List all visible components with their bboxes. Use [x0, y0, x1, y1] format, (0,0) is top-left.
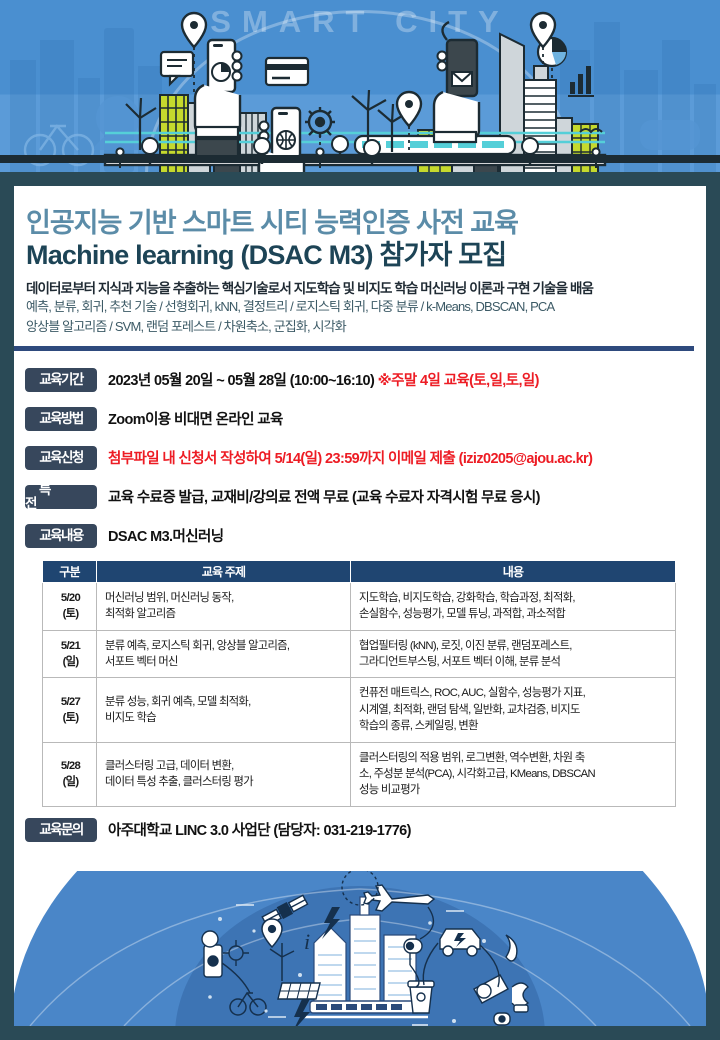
cell-content: 지도학습, 비지도학습, 강화학습, 학습과정, 최적화,손실함수, 성능평가,…: [351, 582, 676, 630]
bar-chart-icon: [568, 66, 594, 96]
title-block: 인공지능 기반 스마트 시티 능력인증 사전 교육 Machine learni…: [14, 186, 706, 337]
info-period-black: 2023년 05월 20일 ~ 05월 28일 (10:00~16:10): [108, 373, 374, 389]
badge-benefits: 특 전: [25, 485, 97, 509]
badge-education-content: 교육내용: [25, 524, 97, 548]
cell-date-line2: (일): [51, 654, 90, 670]
cell-date-line1: 5/28: [51, 758, 90, 774]
cell-date-line2: (일): [51, 774, 90, 790]
hand-phone-left: [195, 40, 242, 159]
flame-icon: [506, 935, 517, 961]
smart-city-scene: [0, 0, 720, 172]
cctv-dome-icon: [474, 975, 508, 1003]
electric-car-icon: [440, 929, 480, 956]
cfl-bulb-icon: [512, 983, 528, 1012]
table-row: 5/21 (일) 분류 예측, 로지스틱 회귀, 앙상블 알고리즘,서포트 벡터…: [43, 630, 676, 678]
wind-turbine-small-icon: [270, 943, 294, 981]
cell-content: 컨퓨전 매트릭스, ROC, AUC, 실함수, 성능평가 지표,시계열, 최적…: [351, 678, 676, 742]
cell-topic: 분류 성능, 회귀 예측, 모델 최적화,비지도 학습: [97, 678, 351, 742]
badge-education-inquiry: 교육문의: [25, 818, 97, 842]
info-row-method: 교육방법 Zoom이용 비대면 온라인 교육: [25, 404, 706, 434]
badge-education-method: 교육방법: [25, 407, 97, 431]
title-divider: [14, 346, 694, 351]
map-pin-small-icon: [262, 919, 282, 947]
table-row: 5/28 (일) 클러스터링 고급, 데이터 변환,데이터 특성 추출, 클러스…: [43, 742, 676, 806]
cell-date: 5/28 (일): [43, 742, 97, 806]
contact-row: 교육문의 아주대학교 LINC 3.0 사업단 (담당자: 031-219-17…: [25, 818, 706, 842]
tram-icon: [302, 1001, 428, 1017]
page-title-line1: 인공지능 기반 스마트 시티 능력인증 사전 교육: [26, 208, 706, 238]
subtitle-topics-line1: 예측, 분류, 회귀, 추천 기술 / 선형회귀, kNN, 결정트리 / 로지…: [26, 297, 706, 317]
info-benefits-text: 교육 수료증 발급, 교재비/강의료 전액 무료 (교육 수료자 자격시험 무료…: [108, 486, 540, 507]
smartphone-small-icon: [202, 931, 222, 977]
subtitle-description: 데이터로부터 지식과 지능을 추출하는 핵심기술로서 지도학습 및 비지도 학습…: [26, 277, 706, 297]
table-row: 5/20 (토) 머신러닝 범위, 머신러닝 동작,최적화 알고리즘 지도학습,…: [43, 582, 676, 630]
contact-text: 아주대학교 LINC 3.0 사업단 (담당자: 031-219-1776): [108, 819, 411, 840]
info-rows-list: 교육기간 2023년 05월 20일 ~ 05월 28일 (10:00~16:1…: [14, 365, 706, 551]
badge-education-application: 교육신청: [25, 446, 97, 470]
subtitle-topics-line2: 앙상블 알고리즘 / SVM, 랜덤 포레스트 / 차원축소, 군집화, 시각화: [26, 317, 706, 337]
poster-frame: 인공지능 기반 스마트 시티 능력인증 사전 교육 Machine learni…: [0, 172, 720, 1040]
info-row-application: 교육신청 첨부파일 내 신청서 작성하여 5/14(일) 23:59까지 이메일…: [25, 443, 706, 473]
table-header-content: 내용: [351, 560, 676, 582]
cell-topic: 분류 예측, 로지스틱 회귀, 앙상블 알고리즘,서포트 벡터 머신: [97, 630, 351, 678]
cell-topic: 클러스터링 고급, 데이터 변환,데이터 특성 추출, 클러스터링 평가: [97, 742, 351, 806]
cell-date-line2: (토): [51, 710, 90, 726]
chat-bubble-icon: [161, 52, 193, 84]
svg-text:i: i: [304, 929, 310, 954]
cell-topic: 머신러닝 범위, 머신러닝 동작,최적화 알고리즘: [97, 582, 351, 630]
iot-city-scene: i: [14, 871, 706, 1026]
cell-content: 협업필터링 (kNN), 로짓, 이진 분류, 랜덤포레스트,그라디언트부스팅,…: [351, 630, 676, 678]
top-banner-illustration: SMART CITY: [0, 0, 720, 172]
info-period-red: ※주말 4일 교육(토,일,토,일): [378, 373, 539, 389]
cell-content: 클러스터링의 적용 범위, 로그변환, 역수변환, 차원 축소, 주성분 분석(…: [351, 742, 676, 806]
cell-date-line1: 5/27: [51, 694, 90, 710]
info-row-period: 교육기간 2023년 05월 20일 ~ 05월 28일 (10:00~16:1…: [25, 365, 706, 395]
table-body: 5/20 (토) 머신러닝 범위, 머신러닝 동작,최적화 알고리즘 지도학습,…: [43, 582, 676, 806]
cell-date: 5/20 (토): [43, 582, 97, 630]
poster-root: SMART CITY: [0, 0, 720, 1040]
info-row-curriculum: 교육내용 DSAC M3.머신러닝: [25, 521, 706, 551]
table-row: 5/27 (토) 분류 성능, 회귀 예측, 모델 최적화,비지도 학습 컨퓨전…: [43, 678, 676, 742]
info-method-text: Zoom이용 비대면 온라인 교육: [108, 408, 283, 429]
schedule-table-wrapper: 구분 교육 주제 내용 5/20 (토) 머신러닝 범위, 머신러닝 동작,최적…: [42, 560, 676, 807]
page-title-line2: Machine learning (DSAC M3) 참가자 모집: [26, 239, 706, 271]
table-header-division: 구분: [43, 560, 97, 582]
info-period-text: 2023년 05월 20일 ~ 05월 28일 (10:00~16:10) ※주…: [108, 369, 539, 390]
content-card: 인공지능 기반 스마트 시티 능력인증 사전 교육 Machine learni…: [14, 186, 706, 1026]
cell-date: 5/21 (일): [43, 630, 97, 678]
schedule-table: 구분 교육 주제 내용 5/20 (토) 머신러닝 범위, 머신러닝 동작,최적…: [42, 560, 676, 807]
solar-panel-icon: [278, 983, 320, 999]
plug-icon: [494, 1013, 510, 1025]
info-icon: i: [304, 929, 310, 954]
cell-date-line1: 5/21: [51, 638, 90, 654]
table-header-row: 구분 교육 주제 내용: [43, 560, 676, 582]
cell-date: 5/27 (토): [43, 678, 97, 742]
table-header-topic: 교육 주제: [97, 560, 351, 582]
info-row-benefits: 특 전 교육 수료증 발급, 교재비/강의료 전액 무료 (교육 수료자 자격시…: [25, 482, 706, 512]
trash-bin-icon: [408, 981, 434, 1013]
cell-date-line1: 5/20: [51, 590, 90, 606]
banner-ground-line: [0, 155, 720, 163]
info-application-text[interactable]: 첨부파일 내 신청서 작성하여 5/14(일) 23:59까지 이메일 제출 (…: [108, 447, 592, 468]
info-curriculum-text: DSAC M3.머신러닝: [108, 525, 223, 546]
hand-phone-right: [434, 22, 479, 142]
credit-card-icon: [266, 58, 308, 85]
bicycle-small-icon: [230, 993, 266, 1015]
airplane-icon: [364, 885, 434, 911]
badge-education-period: 교육기간: [25, 368, 97, 392]
bottom-illustration: i: [14, 871, 706, 1026]
cell-date-line2: (토): [51, 606, 90, 622]
